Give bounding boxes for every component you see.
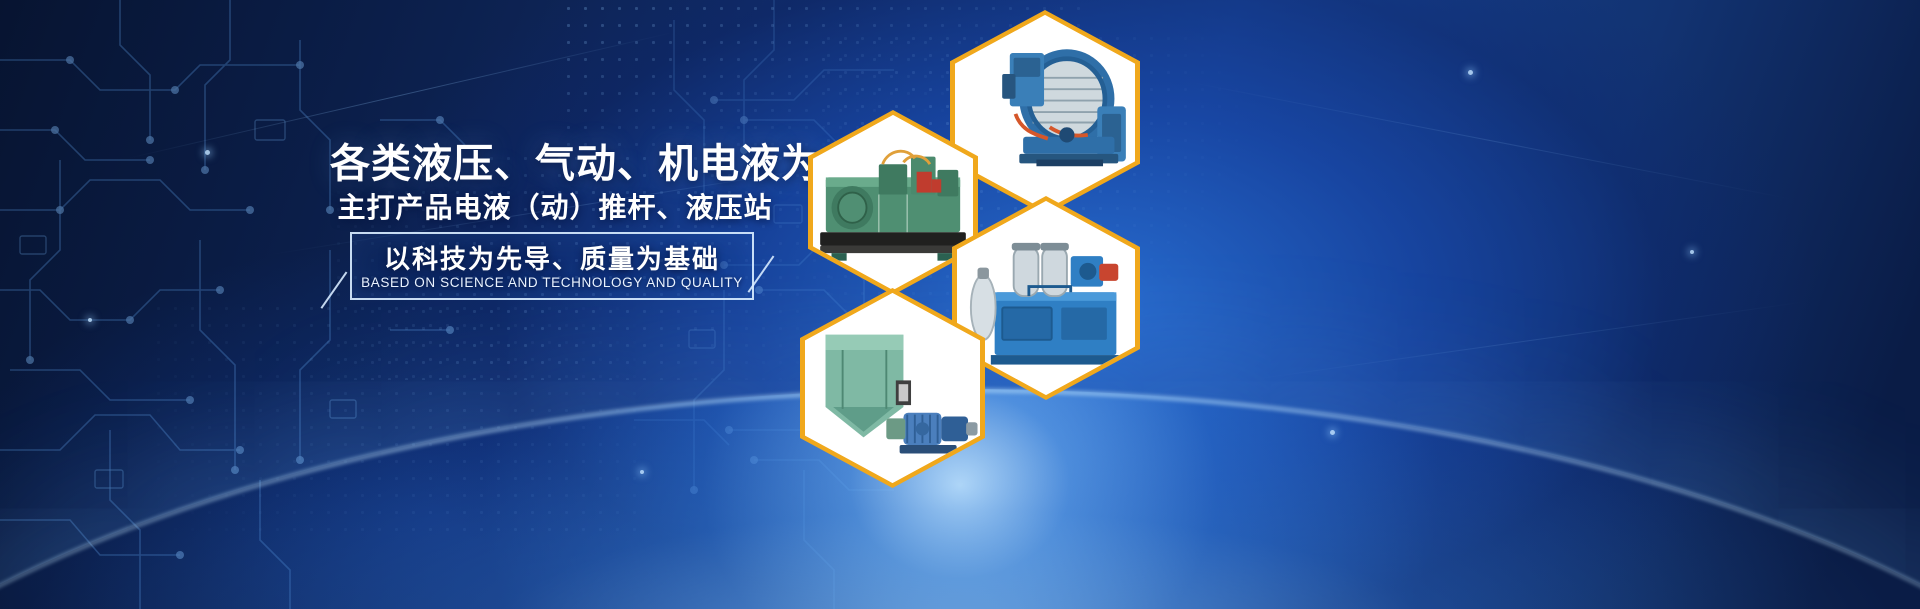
product-image-electro-hydraulic-pusher: [805, 293, 980, 483]
hero-banner: 各类液压、气动、机电液为一体 主打产品电液（动）推杆、液压站 以科技为先导、质量…: [0, 0, 1920, 609]
product-image-butterfly-valve-actuator: [955, 15, 1135, 210]
sparkle: [640, 470, 644, 474]
slogan-chinese: 以科技为先导、质量为基础: [350, 239, 754, 276]
light-streak: [1253, 301, 1808, 380]
sparkle: [1468, 70, 1473, 75]
circuit-pattern-left-icon: [0, 0, 470, 609]
banner-subheadline: 主打产品电液（动）推杆、液压站: [330, 186, 780, 226]
sparkle: [1330, 430, 1335, 435]
light-streak: [1186, 81, 1795, 200]
sparkle: [205, 150, 210, 155]
product-image-hydraulic-pump-station-green: [813, 115, 973, 290]
slogan-tick-left: [321, 272, 348, 309]
slogan-english: BASED ON SCIENCE AND TECHNOLOGY AND QUAL…: [350, 275, 754, 290]
product-hex-butterfly-valve-actuator[interactable]: [950, 10, 1140, 215]
sparkle: [1690, 250, 1694, 254]
circuit-pattern-right-icon: [474, 0, 894, 609]
sparkle: [88, 318, 92, 322]
banner-headline: 各类液压、气动、机电液为一体: [330, 131, 780, 189]
dot-matrix-panel: [150, 300, 650, 540]
